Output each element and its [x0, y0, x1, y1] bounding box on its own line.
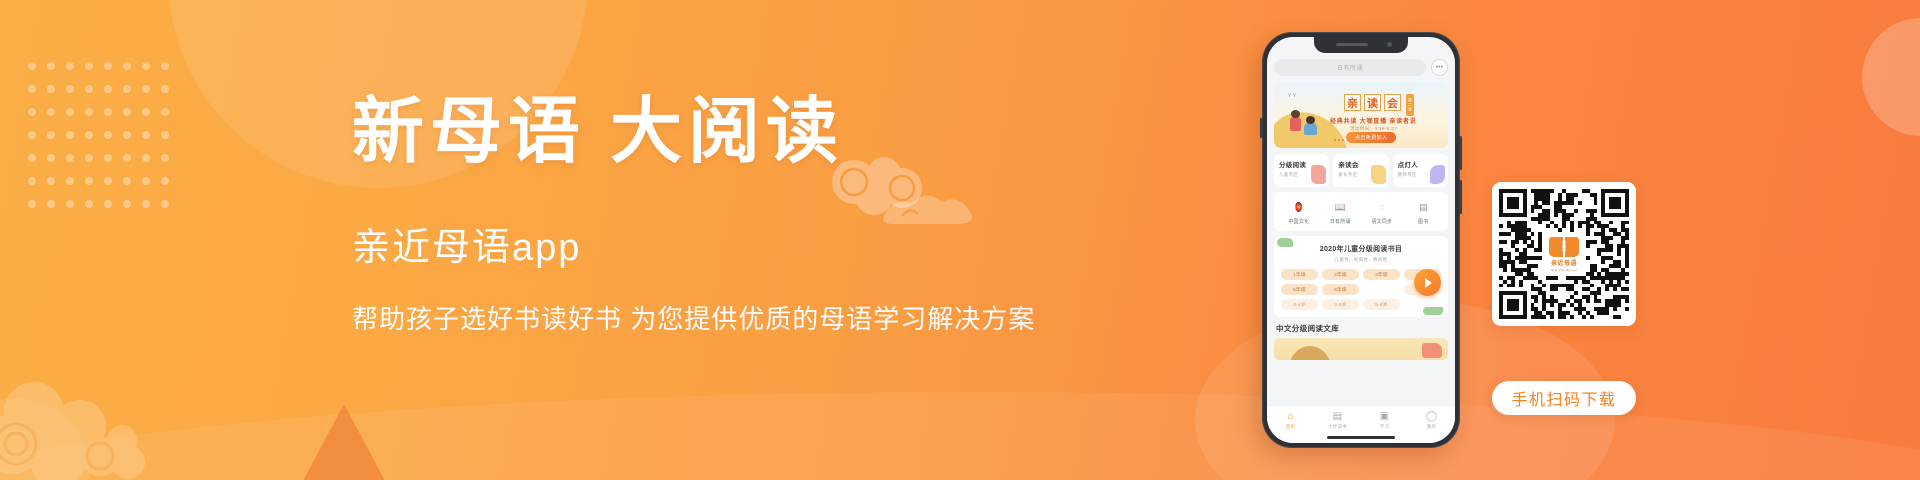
home-icon: ⌂ — [1272, 411, 1310, 423]
illustration-child — [1290, 116, 1301, 131]
tab-book[interactable]: ▤小步读书 — [1319, 411, 1357, 430]
qr-code: 亲近母语 QIN JIN MU YU — [1492, 182, 1636, 326]
grade-chip[interactable]: 1年级 — [1281, 269, 1318, 280]
qr-logo-subtitle: QIN JIN MU YU — [1551, 268, 1577, 272]
book-open-icon: 📖 — [1332, 199, 1348, 215]
camera-icon — [1387, 42, 1392, 47]
search-row: 日有所诵 ••• — [1274, 59, 1448, 76]
category-card[interactable]: 亲读会家长专区 — [1333, 154, 1388, 187]
grid-spacer — [1363, 284, 1400, 295]
grade-chip[interactable]: 5年级 — [1281, 284, 1318, 295]
quick-entry-label: 中国文化 — [1282, 218, 1316, 225]
grade-chip-grid: 1年级2年级3年级 4年级5年级6年级0-3岁3-4岁4-5岁5-6岁 — [1281, 269, 1441, 310]
auspicious-cloud-icon — [0, 378, 198, 480]
promo-carousel-dots[interactable] — [1334, 139, 1344, 141]
refresh-icon: ◌ — [1374, 199, 1390, 215]
phone-screen: 日有所诵 ••• ٧ ٧ 亲 读 会 第二季 经典共读 大咖直播 亲读者说 — [1267, 37, 1455, 443]
qr-logo-name: 亲近母语 — [1551, 258, 1577, 267]
quick-entry-refresh[interactable]: ◌语文同步 — [1365, 199, 1399, 225]
banner-subline: 亲近母语app — [352, 216, 1052, 271]
banner-headline: 新母语 大阅读 — [352, 94, 1052, 172]
phone-notch — [1314, 37, 1408, 53]
phone-mockup: 日有所诵 ••• ٧ ٧ 亲 读 会 第二季 经典共读 大咖直播 亲读者说 — [1262, 32, 1460, 448]
category-cards: 分级阅读儿童专区亲读会家长专区点灯人教师专区 — [1274, 154, 1448, 187]
leaf-icon — [1277, 238, 1293, 247]
promo-char: 读 — [1364, 94, 1381, 111]
promo-card[interactable]: ٧ ٧ 亲 读 会 第二季 经典共读 大咖直播 亲读者说 活动时间：4.16-5… — [1274, 82, 1448, 148]
category-card[interactable]: 分级阅读儿童专区 — [1274, 154, 1329, 187]
promo-char: 会 — [1384, 94, 1401, 111]
more-icon[interactable]: ••• — [1431, 59, 1448, 76]
banner-tagline: 帮助孩子选好书读好书 为您提供优质的母语学习解决方案 — [352, 299, 1052, 336]
grade-book-card: 2020年儿童分级阅读书目 儿童性、经典性、教育性 1年级2年级3年级 4年级5… — [1274, 236, 1448, 317]
illustration-birds: ٧ ٧ — [1288, 92, 1296, 99]
qr-center-logo: 亲近母语 QIN JIN MU YU — [1544, 234, 1584, 274]
grade-chip[interactable]: 6年级 — [1322, 284, 1359, 295]
decorative-dot-grid — [28, 62, 168, 214]
decorative-circle-bottom-left — [0, 398, 90, 480]
category-card[interactable]: 点灯人教师专区 — [1393, 154, 1448, 187]
book-icon — [1549, 237, 1579, 257]
grade-card-subtitle: 儿童性、经典性、教育性 — [1281, 257, 1441, 263]
banner-copy: 新母语 大阅读 亲近母语app 帮助孩子选好书读好书 为您提供优质的母语学习解决… — [352, 94, 1052, 336]
user-icon: ◯ — [1413, 411, 1451, 423]
tab-label: 我的 — [1413, 424, 1451, 430]
age-chip[interactable]: 4-5岁 — [1322, 299, 1359, 310]
decorative-triangle — [296, 404, 392, 480]
illustration-child — [1304, 122, 1317, 135]
home-indicator — [1327, 436, 1395, 439]
search-input[interactable]: 日有所诵 — [1274, 59, 1426, 76]
tab-home[interactable]: ⌂首页 — [1272, 411, 1310, 430]
grade-chip[interactable]: 3年级 — [1363, 269, 1400, 280]
play-icon[interactable] — [1414, 269, 1441, 296]
quick-entry-label: 语文同步 — [1365, 218, 1399, 225]
tab-label: 首页 — [1272, 424, 1310, 430]
promo-season-tag: 第二季 — [1406, 94, 1414, 116]
quick-entry-label: 图书 — [1406, 218, 1440, 225]
speaker-icon — [1336, 43, 1368, 46]
qr-code-canvas: 亲近母语 QIN JIN MU YU — [1499, 189, 1629, 319]
book-icon: ▤ — [1319, 411, 1357, 423]
grade-card-title: 2020年儿童分级阅读书目 — [1281, 244, 1441, 254]
clipboard-icon: ▣ — [1366, 411, 1404, 423]
promo-title: 亲 读 会 第二季 — [1344, 94, 1414, 116]
illustration-book — [1422, 343, 1442, 358]
quick-entry-row: 🏮中国文化📖日有所诵◌语文同步▤图书 — [1274, 192, 1448, 231]
tab-label: 学习 — [1366, 424, 1404, 430]
download-button[interactable]: 手机扫码下载 — [1492, 381, 1636, 415]
illustration-arc — [1288, 346, 1332, 360]
category-card-illustration — [1430, 165, 1445, 184]
promo-char: 亲 — [1344, 94, 1361, 111]
grade-chip[interactable]: 2年级 — [1322, 269, 1359, 280]
quick-entry-books[interactable]: ▤图书 — [1406, 199, 1440, 225]
phone-power-button — [1459, 136, 1462, 170]
decorative-circle-top-right — [1862, 18, 1920, 136]
tab-user[interactable]: ◯我的 — [1413, 411, 1451, 430]
promo-cta-button[interactable]: 点击免费加入 — [1346, 132, 1396, 143]
scroll-icon: 🏮 — [1291, 199, 1307, 215]
tab-clipboard[interactable]: ▣学习 — [1366, 411, 1404, 430]
quick-entry-label: 日有所诵 — [1323, 218, 1357, 225]
category-card-illustration — [1311, 165, 1326, 184]
library-card[interactable] — [1274, 338, 1448, 360]
library-section-title: 中文分级阅读文库 — [1274, 323, 1448, 334]
age-chip[interactable]: 5-6岁 — [1363, 299, 1400, 310]
age-chip[interactable]: 3-4岁 — [1281, 299, 1318, 310]
category-card-illustration — [1371, 165, 1386, 184]
app-screen: 日有所诵 ••• ٧ ٧ 亲 读 会 第二季 经典共读 大咖直播 亲读者说 — [1267, 37, 1455, 443]
phone-volume-button — [1260, 118, 1263, 138]
phone-side-button — [1459, 180, 1462, 214]
tab-label: 小步读书 — [1319, 424, 1357, 430]
quick-entry-book-open[interactable]: 📖日有所诵 — [1323, 199, 1357, 225]
promo-subtitle: 经典共读 大咖直播 亲读者说 — [1330, 116, 1417, 125]
books-icon: ▤ — [1415, 199, 1431, 215]
promo-banner: 新母语 大阅读 亲近母语app 帮助孩子选好书读好书 为您提供优质的母语学习解决… — [0, 0, 1920, 480]
quick-entry-scroll[interactable]: 🏮中国文化 — [1282, 199, 1316, 225]
